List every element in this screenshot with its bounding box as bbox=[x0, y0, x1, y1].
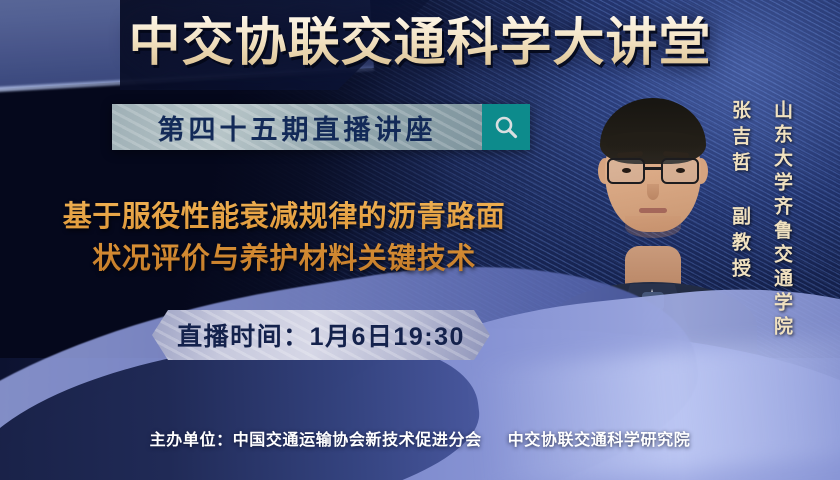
portrait-hair bbox=[600, 98, 706, 164]
portrait-chin-shadow bbox=[625, 216, 681, 238]
episode-label-container: 第四十五期直播讲座 bbox=[112, 104, 482, 150]
schedule-badge: 直播时间：1月6日19:30 bbox=[152, 310, 490, 360]
episode-banner: 第四十五期直播讲座 bbox=[112, 104, 530, 150]
speaker-name-title: 张吉哲 副教授 bbox=[726, 100, 753, 284]
lecture-topic-line-2: 状况评价与养护材料关键技术 bbox=[14, 238, 554, 280]
portrait-eye-left bbox=[622, 168, 631, 173]
portrait-glasses-bridge bbox=[645, 167, 661, 170]
footer-organizers: 主办单位：中国交通运输协会新技术促进分会中交协联交通科学研究院 bbox=[0, 426, 840, 450]
portrait-glasses bbox=[607, 158, 699, 184]
schedule-text: 直播时间：1月6日19:30 bbox=[177, 317, 465, 353]
lecture-topic-line-1: 基于服役性能衰减规律的沥青路面 bbox=[14, 196, 554, 238]
search-icon[interactable] bbox=[482, 104, 530, 150]
portrait-mouth bbox=[639, 208, 667, 213]
lecture-topic: 基于服役性能衰减规律的沥青路面 状况评价与养护材料关键技术 bbox=[14, 196, 554, 280]
footer-organizer-2: 中交协联交通科学研究院 bbox=[508, 432, 691, 449]
speaker-organization: 山东大学齐鲁交通学院 bbox=[768, 100, 795, 340]
livestream-poster: 中交协联交通科学大讲堂 第四十五期直播讲座 基于服役性能衰减规律的沥青路面 状况… bbox=[0, 0, 840, 480]
episode-label: 第四十五期直播讲座 bbox=[158, 108, 437, 147]
footer-organizer-1: 中国交通运输协会新技术促进分会 bbox=[233, 432, 482, 449]
footer-prefix: 主办单位： bbox=[150, 432, 233, 449]
portrait-eye-right bbox=[676, 168, 685, 173]
page-title: 中交协联交通科学大讲堂 bbox=[0, 16, 840, 71]
portrait-nose bbox=[647, 184, 659, 200]
